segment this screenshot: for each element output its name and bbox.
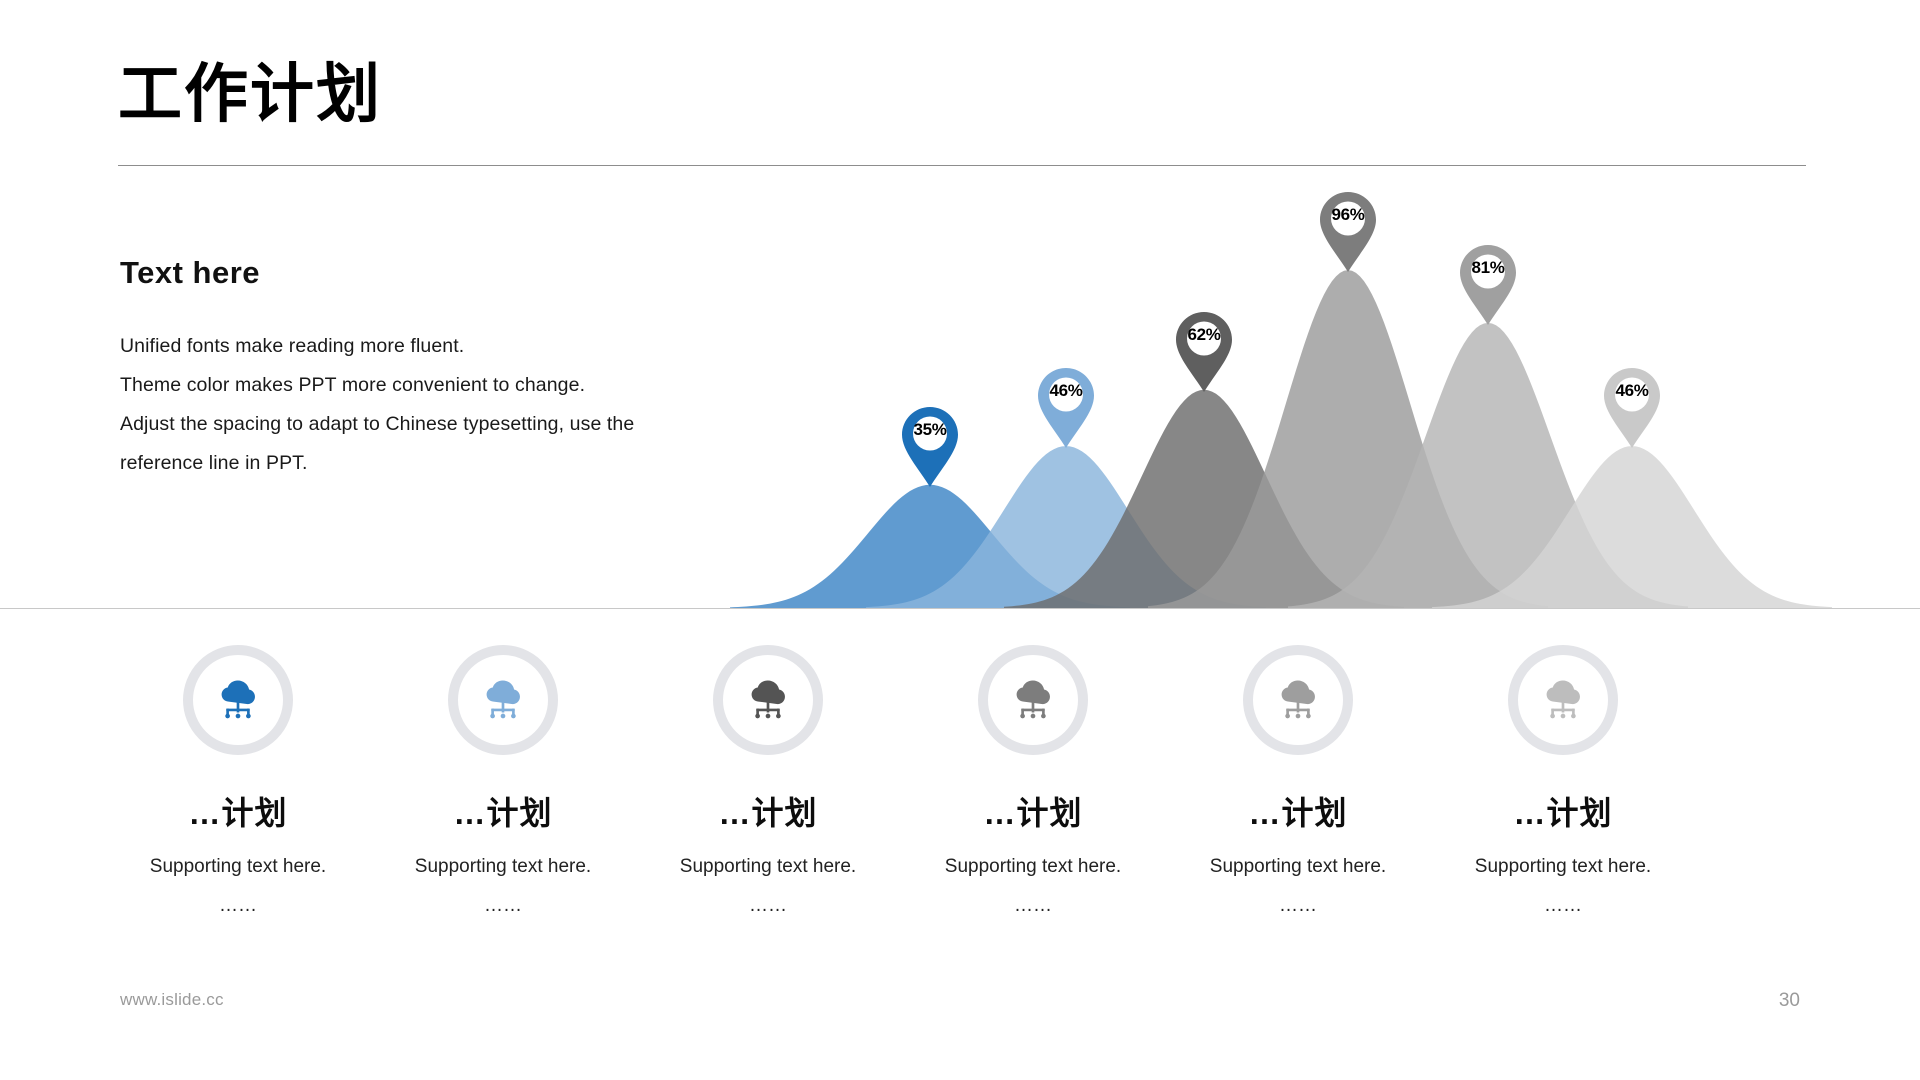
card-dots: …… (1417, 896, 1709, 915)
cloud-network-icon (213, 675, 263, 725)
bell-curve-chart: 35% 46% 62% 96% (0, 150, 1920, 610)
card-dots: …… (357, 896, 649, 915)
card-title: …计划 (92, 797, 384, 829)
pin-marker-4: 96% (1317, 190, 1379, 274)
card-title: …计划 (622, 797, 914, 829)
map-pin-icon (1601, 366, 1663, 450)
pin-label: 35% (899, 420, 961, 440)
card-title: …计划 (887, 797, 1179, 829)
plan-card-5[interactable]: …计划 Supporting text here. …… (1152, 645, 1444, 915)
page-number: 30 (1779, 990, 1800, 1012)
plan-card-6[interactable]: …计划 Supporting text here. …… (1417, 645, 1709, 915)
plan-card-3[interactable]: …计划 Supporting text here. …… (622, 645, 914, 915)
plan-card-2[interactable]: …计划 Supporting text here. …… (357, 645, 649, 915)
map-pin-icon (899, 405, 961, 489)
pin-label: 62% (1173, 325, 1235, 345)
card-dots: …… (887, 896, 1179, 915)
card-title: …计划 (1152, 797, 1444, 829)
footer-site-link[interactable]: www.islide.cc (120, 990, 224, 1010)
pin-label: 46% (1601, 381, 1663, 401)
chart-baseline (0, 608, 1920, 609)
icon-ring (978, 645, 1088, 755)
pin-label: 96% (1317, 205, 1379, 225)
map-pin-icon (1317, 190, 1379, 274)
map-pin-icon (1173, 310, 1235, 394)
card-subtitle: Supporting text here. (622, 857, 914, 876)
cloud-network-icon (1008, 675, 1058, 725)
page-title-block: 工作计划 (118, 62, 1808, 126)
map-pin-icon (1457, 243, 1519, 327)
card-subtitle: Supporting text here. (887, 857, 1179, 876)
icon-ring (713, 645, 823, 755)
slide: 工作计划 Text here Unified fonts make readin… (0, 0, 1920, 1080)
pin-marker-2: 46% (1035, 366, 1097, 450)
pin-marker-1: 35% (899, 405, 961, 489)
icon-ring (448, 645, 558, 755)
pin-marker-5: 81% (1457, 243, 1519, 327)
card-dots: …… (1152, 896, 1444, 915)
card-subtitle: Supporting text here. (357, 857, 649, 876)
cloud-network-icon (743, 675, 793, 725)
map-pin-icon (1035, 366, 1097, 450)
plan-card-4[interactable]: …计划 Supporting text here. …… (887, 645, 1179, 915)
cloud-network-icon (478, 675, 528, 725)
card-dots: …… (622, 896, 914, 915)
pin-label: 81% (1457, 258, 1519, 278)
icon-ring (1508, 645, 1618, 755)
cloud-network-icon (1273, 675, 1323, 725)
plan-card-1[interactable]: …计划 Supporting text here. …… (92, 645, 384, 915)
card-row: …计划 Supporting text here. …… …计划 Support… (0, 645, 1920, 945)
icon-ring (1243, 645, 1353, 755)
pin-marker-3: 62% (1173, 310, 1235, 394)
pin-marker-6: 46% (1601, 366, 1663, 450)
card-dots: …… (92, 896, 384, 915)
cloud-network-icon (1538, 675, 1588, 725)
pin-label: 46% (1035, 381, 1097, 401)
card-title: …计划 (357, 797, 649, 829)
card-subtitle: Supporting text here. (1417, 857, 1709, 876)
card-subtitle: Supporting text here. (92, 857, 384, 876)
card-subtitle: Supporting text here. (1152, 857, 1444, 876)
icon-ring (183, 645, 293, 755)
page-title: 工作计划 (118, 62, 1808, 126)
card-title: …计划 (1417, 797, 1709, 829)
